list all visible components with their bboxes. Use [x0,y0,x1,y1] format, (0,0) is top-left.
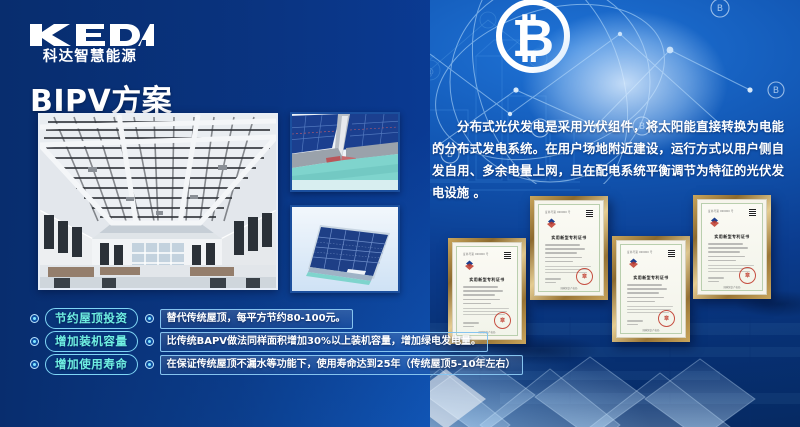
patent-emblem-icon [545,218,558,229]
intro-paragraph: 分布式光伏发电是采用光伏组件，将太阳能直接转换为电能的分布式发电系统。在用户场地… [432,116,784,204]
certificate-3[interactable]: 证书号第 000000 号 实用新型专利证书 章 国家知识产权局 [612,236,690,342]
certificate-2[interactable]: 证书号第 000000 号 实用新型专利证书 章 国家知识产权局 [530,196,608,300]
bullet-icon [30,337,39,346]
feature-row: 节约屋顶投资 替代传统屋顶，每平方节约80-100元。 [30,308,450,329]
pv-mounting-detail-render [290,112,400,192]
qr-code-icon [749,209,756,216]
bullet-icon [145,337,154,346]
certificate-4[interactable]: 证书号第 000000 号 实用新型专利证书 章 国家知识产权局 [693,195,771,299]
bullet-icon [145,360,154,369]
certificate-title: 实用新型专利证书 [545,235,593,241]
feature-description: 替代传统屋顶，每平方节约80-100元。 [160,309,353,329]
atrium-skylight-photo [38,113,278,290]
certificate-number: 证书号第 000000 号 [708,209,734,213]
feature-label: 增加使用寿命 [45,354,138,375]
certificate-title: 实用新型专利证书 [463,277,511,283]
feature-list: 节约屋顶投资 替代传统屋顶，每平方节约80-100元。 增加装机容量 比传统BA… [30,308,450,377]
patent-emblem-icon [708,217,721,228]
qr-code-icon [504,252,511,259]
certificate-footer: 国家知识产权局 [702,285,762,289]
certificate-title: 实用新型专利证书 [708,234,756,240]
keda-wordmark-icon [26,22,154,48]
bullet-icon [30,360,39,369]
patent-emblem-icon [627,258,640,269]
bullet-icon [145,314,154,323]
feature-description: 比传统BAPV做法同样面积增加30%以上装机容量，增加绿电发电量。 [160,332,488,352]
certificate-number: 证书号第 000000 号 [545,210,571,214]
bullet-icon [30,314,39,323]
feature-row: 增加装机容量 比传统BAPV做法同样面积增加30%以上装机容量，增加绿电发电量。 [30,331,450,352]
feature-description: 在保证传统屋顶不漏水等功能下，使用寿命达到25年（传统屋顶5-10年左右） [160,355,523,375]
poster-canvas: ✉ @ B BB BB ₿ [0,0,800,427]
qr-code-icon [668,250,675,257]
certificate-footer: 国家知识产权局 [539,286,599,290]
certificate-footer: 国家知识产权局 [621,328,681,332]
certificate-number: 证书号第 000000 号 [627,250,653,254]
qr-code-icon [586,210,593,217]
brand-name-cn: 科达智慧能源 [26,49,154,65]
certificate-title: 实用新型专利证书 [627,275,675,281]
feature-row: 增加使用寿命 在保证传统屋顶不漏水等功能下，使用寿命达到25年（传统屋顶5-10… [30,354,450,375]
certificate-1[interactable]: 证书号第 000000 号 实用新型专利证书 章 国家知识产权局 [448,238,526,344]
pv-module-render [290,205,400,293]
certificate-number: 证书号第 000000 号 [463,252,489,256]
brand-logo: 科达智慧能源 [26,22,156,66]
patent-emblem-icon [463,260,476,271]
svg-text:B: B [773,86,779,96]
feature-label: 节约屋顶投资 [45,308,138,329]
feature-label: 增加装机容量 [45,331,138,352]
